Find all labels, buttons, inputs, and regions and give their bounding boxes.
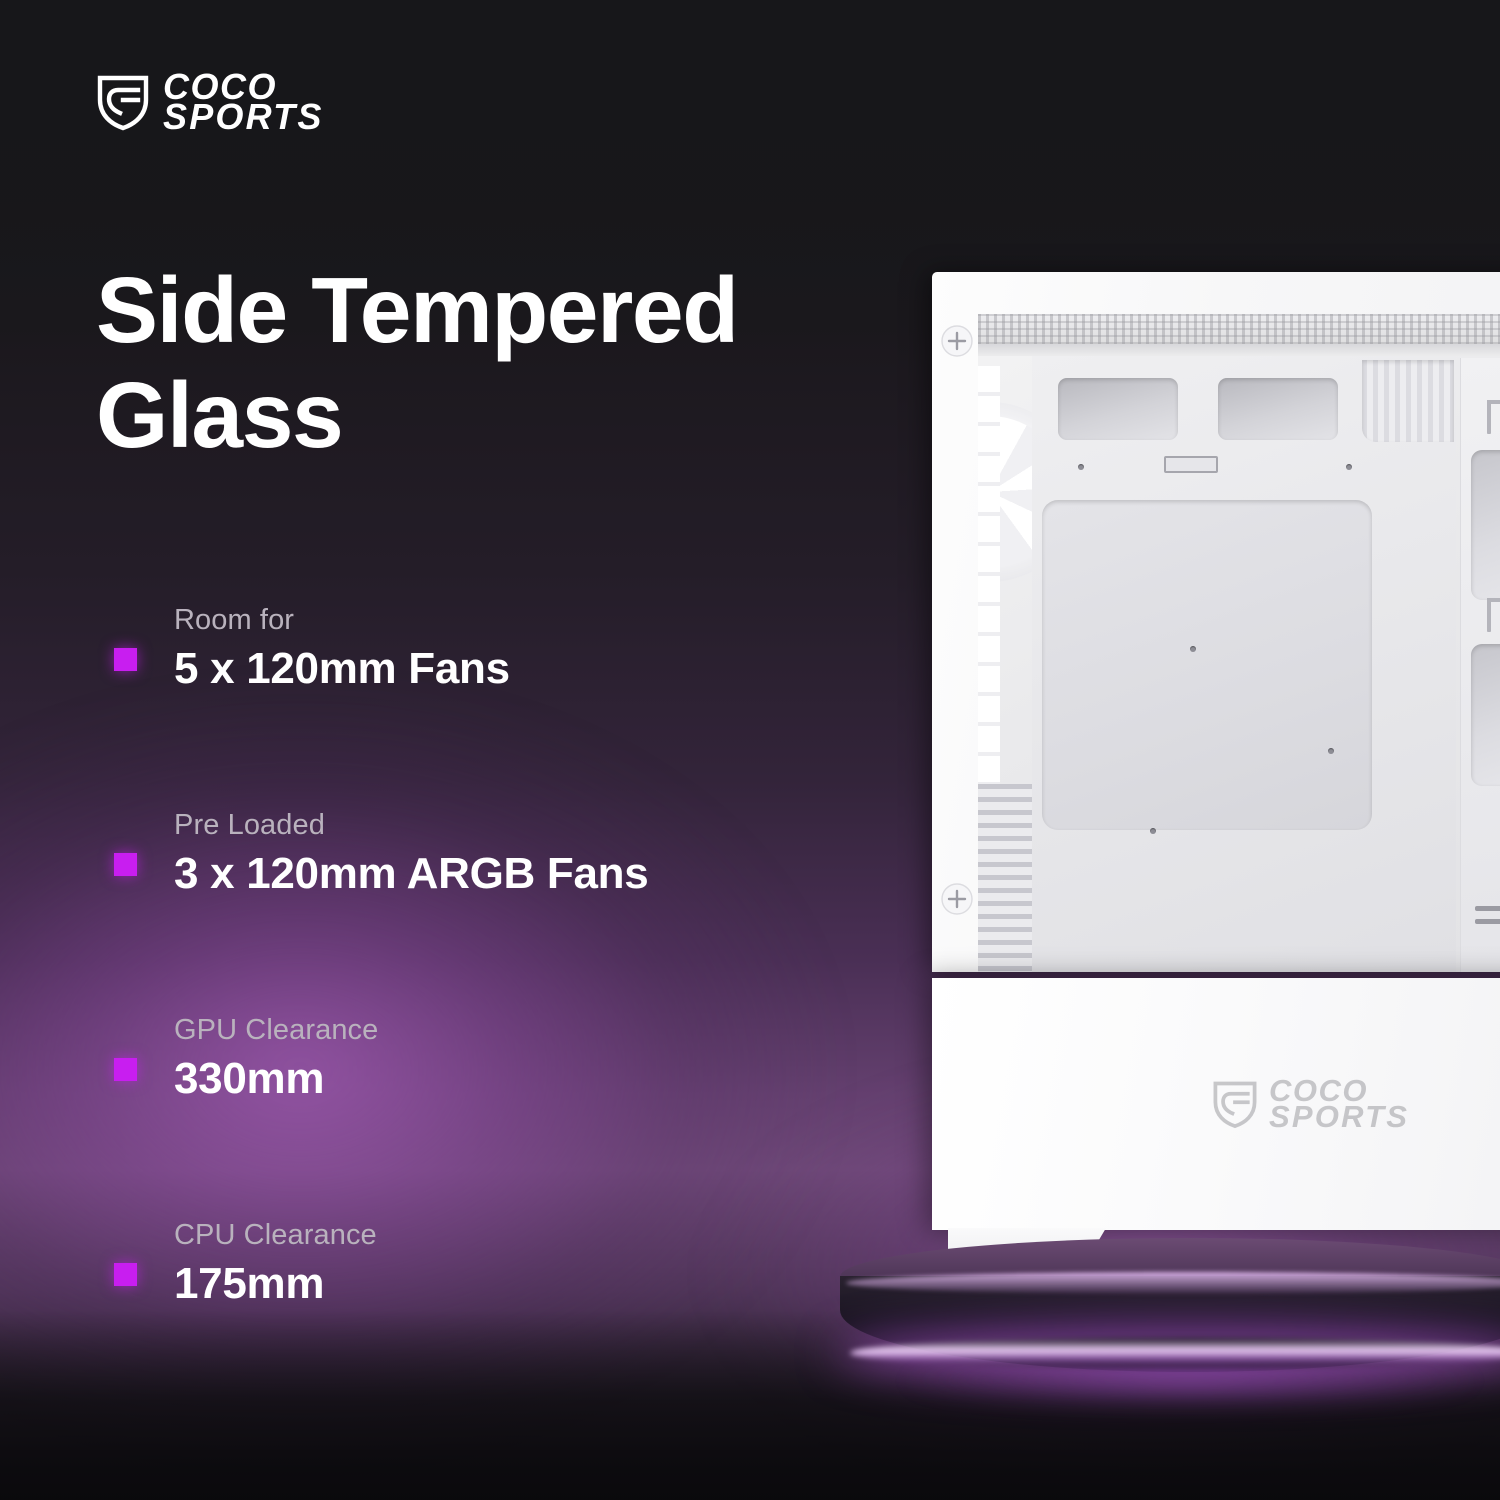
feature-list: Room for 5 x 120mm Fans Pre Loaded 3 x 1… [96,604,796,1424]
cpu-backplate-cutout [1042,500,1372,830]
product-image-pc-case: COCO SPORTS [932,272,1500,1272]
standoff-hole [1346,464,1352,470]
coco-shield-icon [96,73,150,131]
psu-vent-slots [1475,906,1500,926]
cable-cutout-top-left [1058,378,1178,440]
tempered-glass-side-panel [978,314,1500,972]
cable-grommet [1471,450,1500,600]
motherboard-tray [1032,356,1456,972]
case-interior [978,314,1500,972]
feature-label: GPU Clearance [174,1014,796,1047]
cable-cutout-top-right [1218,378,1338,440]
thumbscrew-bottom-icon [940,882,974,916]
case-lower-panel: COCO SPORTS [932,978,1500,1230]
cable-routing-channel [1460,358,1500,972]
cable-slot-icon [1164,456,1218,473]
display-pedestal [840,1238,1500,1406]
standoff-hole [1150,828,1156,834]
cable-grommet [1471,644,1500,786]
front-ventilation-slots [978,784,1036,972]
feature-label: CPU Clearance [174,1219,796,1252]
top-mesh-panel [978,314,1500,344]
feature-item-cpu-clearance: CPU Clearance 175mm [96,1219,796,1424]
feature-label: Pre Loaded [174,809,796,842]
routing-clip-icon [1483,598,1500,632]
standoff-hole [1190,646,1196,652]
bullet-square-icon [114,648,137,671]
standoff-hole [1328,748,1334,754]
feature-value: 330mm [174,1054,796,1104]
standoff-hole [1078,464,1084,470]
feature-item-preloaded-fans: Pre Loaded 3 x 120mm ARGB Fans [96,809,796,1014]
feature-value: 3 x 120mm ARGB Fans [174,849,796,899]
rear-vent-bracket [1362,360,1454,442]
feature-value: 5 x 120mm Fans [174,644,796,694]
feature-item-gpu-clearance: GPU Clearance 330mm [96,1014,796,1219]
product-feature-banner: COCO SPORTS Side Tempered Glass Room for… [0,0,1500,1500]
top-mesh-shelf [978,344,1500,356]
routing-clip-icon [1483,400,1500,434]
case-upper-chassis [932,272,1500,972]
bullet-square-icon [114,1058,137,1081]
case-panel-brand-logo: COCO SPORTS [1212,1078,1409,1130]
coco-shield-icon [1212,1079,1258,1129]
page-title: Side Tempered Glass [96,258,876,468]
case-logo-line2: SPORTS [1269,1104,1409,1130]
feature-label: Room for [174,604,796,637]
bullet-square-icon [114,1263,137,1286]
feature-item-fans-capacity: Room for 5 x 120mm Fans [96,604,796,809]
thumbscrew-top-icon [940,324,974,358]
brand-logo: COCO SPORTS [96,72,324,132]
bullet-square-icon [114,853,137,876]
pedestal-top-rim [846,1272,1500,1294]
fan-frame [978,366,1000,786]
feature-value: 175mm [174,1259,796,1309]
brand-name-line2: SPORTS [163,102,324,132]
